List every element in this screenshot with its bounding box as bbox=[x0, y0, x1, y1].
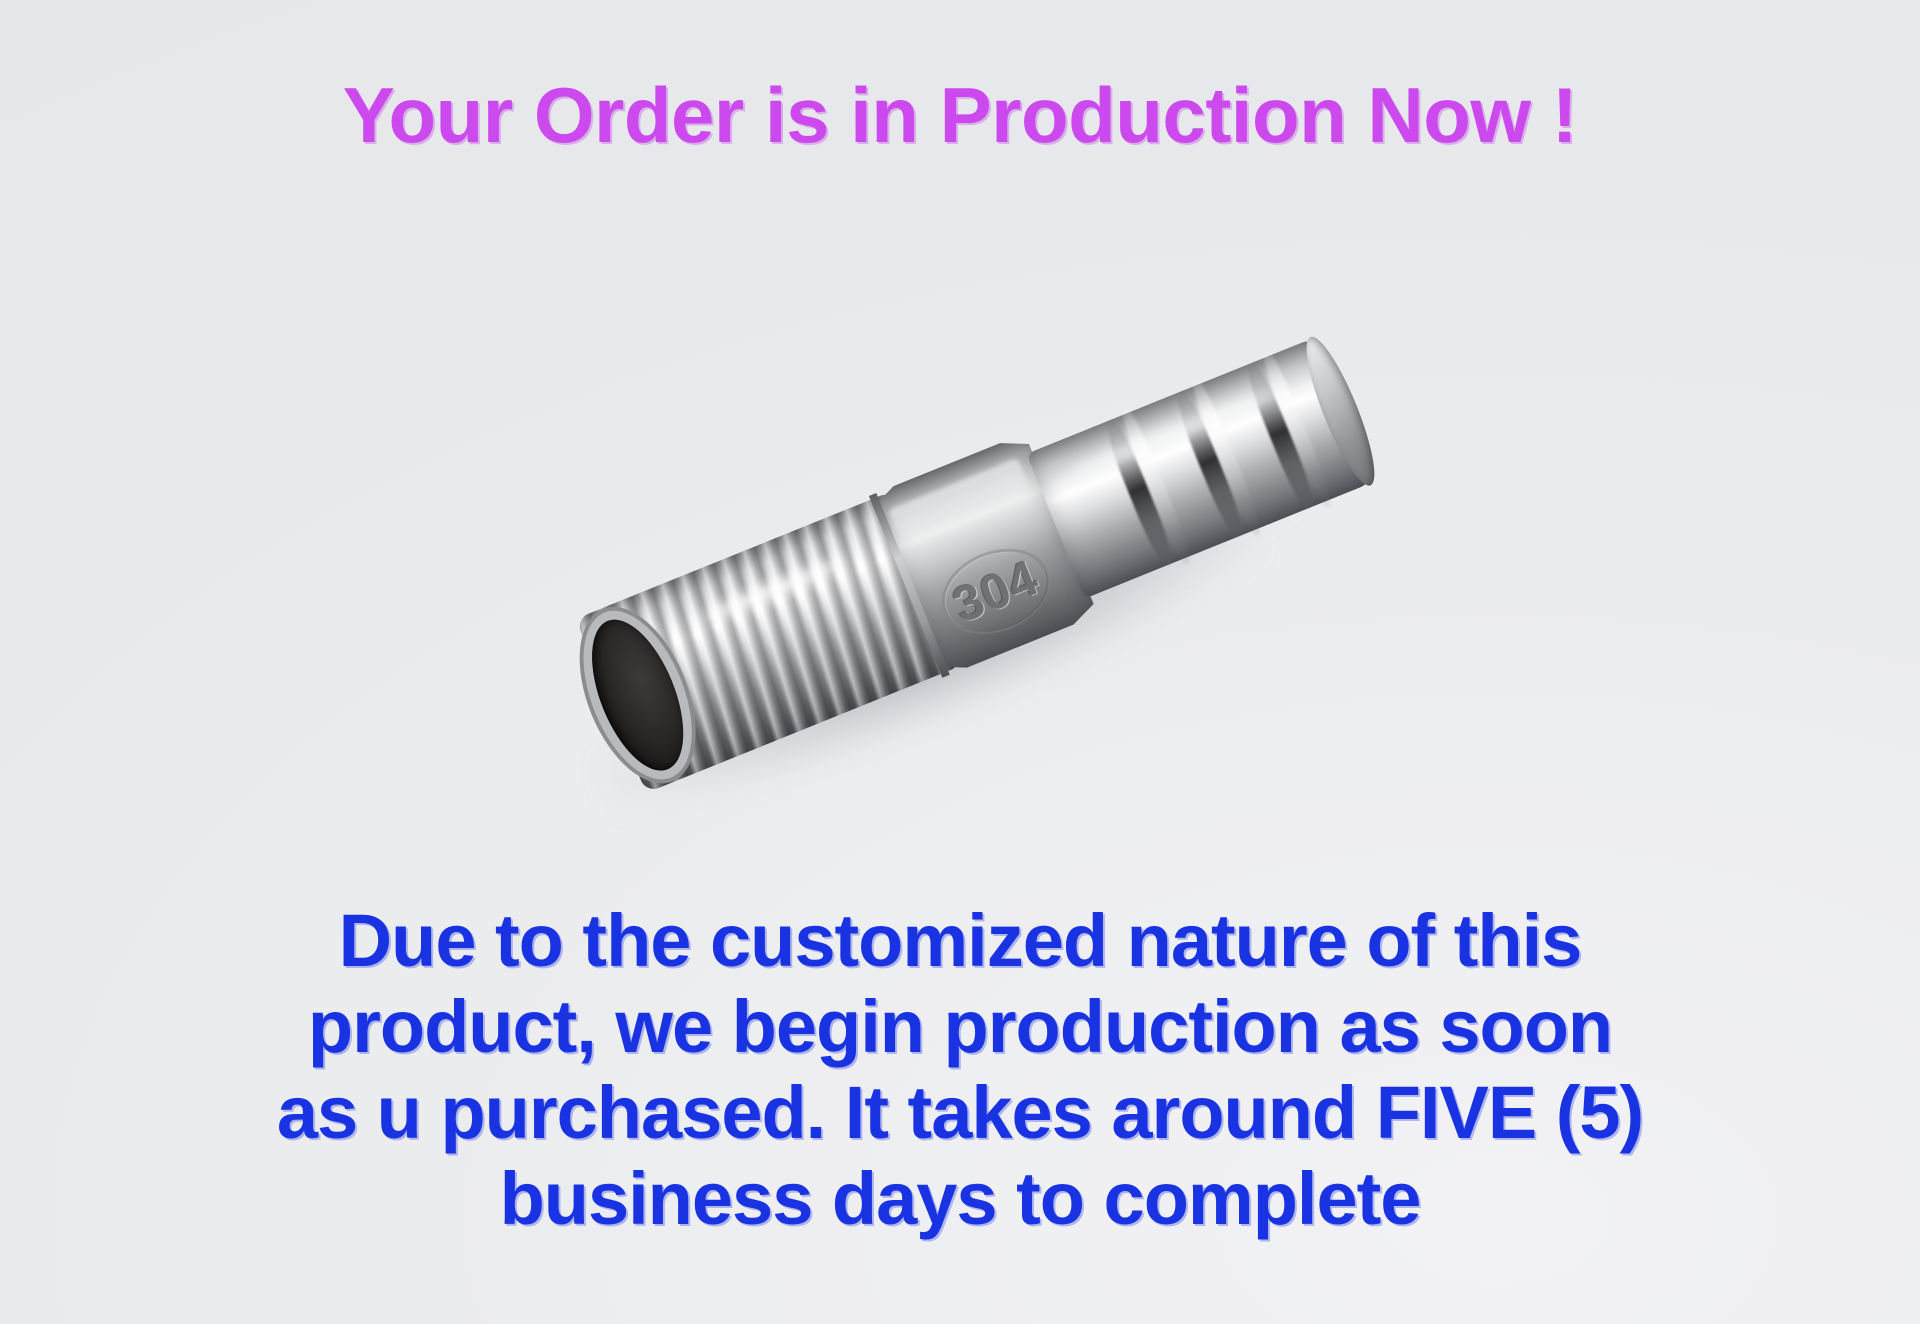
promo-banner: Your Order is in Production Now ! 304 bbox=[0, 0, 1920, 1324]
notice-line-3: as u purchased. It takes around FIVE (5) bbox=[0, 1070, 1920, 1156]
notice-line-2: product, we begin production as soon bbox=[0, 984, 1920, 1070]
page-title: Your Order is in Production Now ! bbox=[0, 76, 1920, 154]
product-photo: 304 bbox=[560, 300, 1390, 800]
production-notice: Due to the customized nature of this pro… bbox=[0, 898, 1920, 1242]
notice-line-1: Due to the customized nature of this bbox=[0, 898, 1920, 984]
notice-line-4: business days to complete bbox=[0, 1156, 1920, 1242]
